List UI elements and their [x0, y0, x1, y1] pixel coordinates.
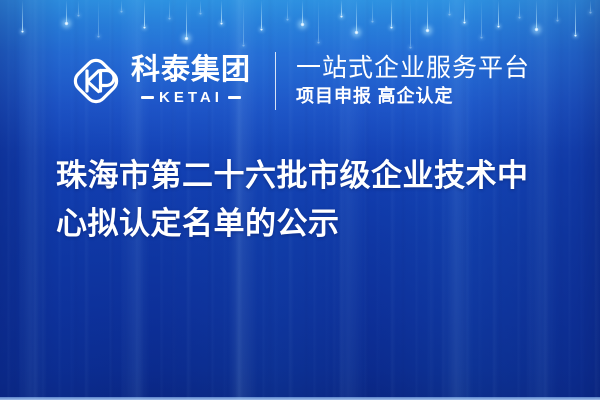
announcement-banner: 科泰集团 KETAI 一站式企业服务平台 项目申报 高企认定 珠海市第二十六批市…	[0, 0, 600, 400]
logo-wordmark: 科泰集团 KETAI	[131, 56, 251, 106]
logo-dash-left-icon	[141, 96, 154, 99]
page-title-line-1: 珠海市第二十六批市级企业技术中	[56, 152, 576, 200]
logo-dash-right-icon	[228, 96, 241, 99]
header-divider	[275, 52, 276, 110]
banner-header: 科泰集团 KETAI 一站式企业服务平台 项目申报 高企认定	[0, 44, 600, 118]
slogan-secondary: 项目申报 高企认定	[296, 85, 530, 108]
page-title: 珠海市第二十六批市级企业技术中 心拟认定名单的公示	[56, 152, 576, 248]
logo-company-name-en-row: KETAI	[131, 89, 251, 106]
ketai-diamond-monogram-icon	[70, 55, 122, 107]
slogan-primary: 一站式企业服务平台	[296, 55, 530, 82]
page-title-line-2: 心拟认定名单的公示	[56, 200, 576, 248]
logo-company-name-en: KETAI	[159, 89, 223, 106]
slogan-block: 一站式企业服务平台 项目申报 高企认定	[296, 55, 530, 108]
logo-company-name-cn: 科泰集团	[131, 56, 251, 86]
company-logo[interactable]: 科泰集团 KETAI	[70, 55, 251, 107]
